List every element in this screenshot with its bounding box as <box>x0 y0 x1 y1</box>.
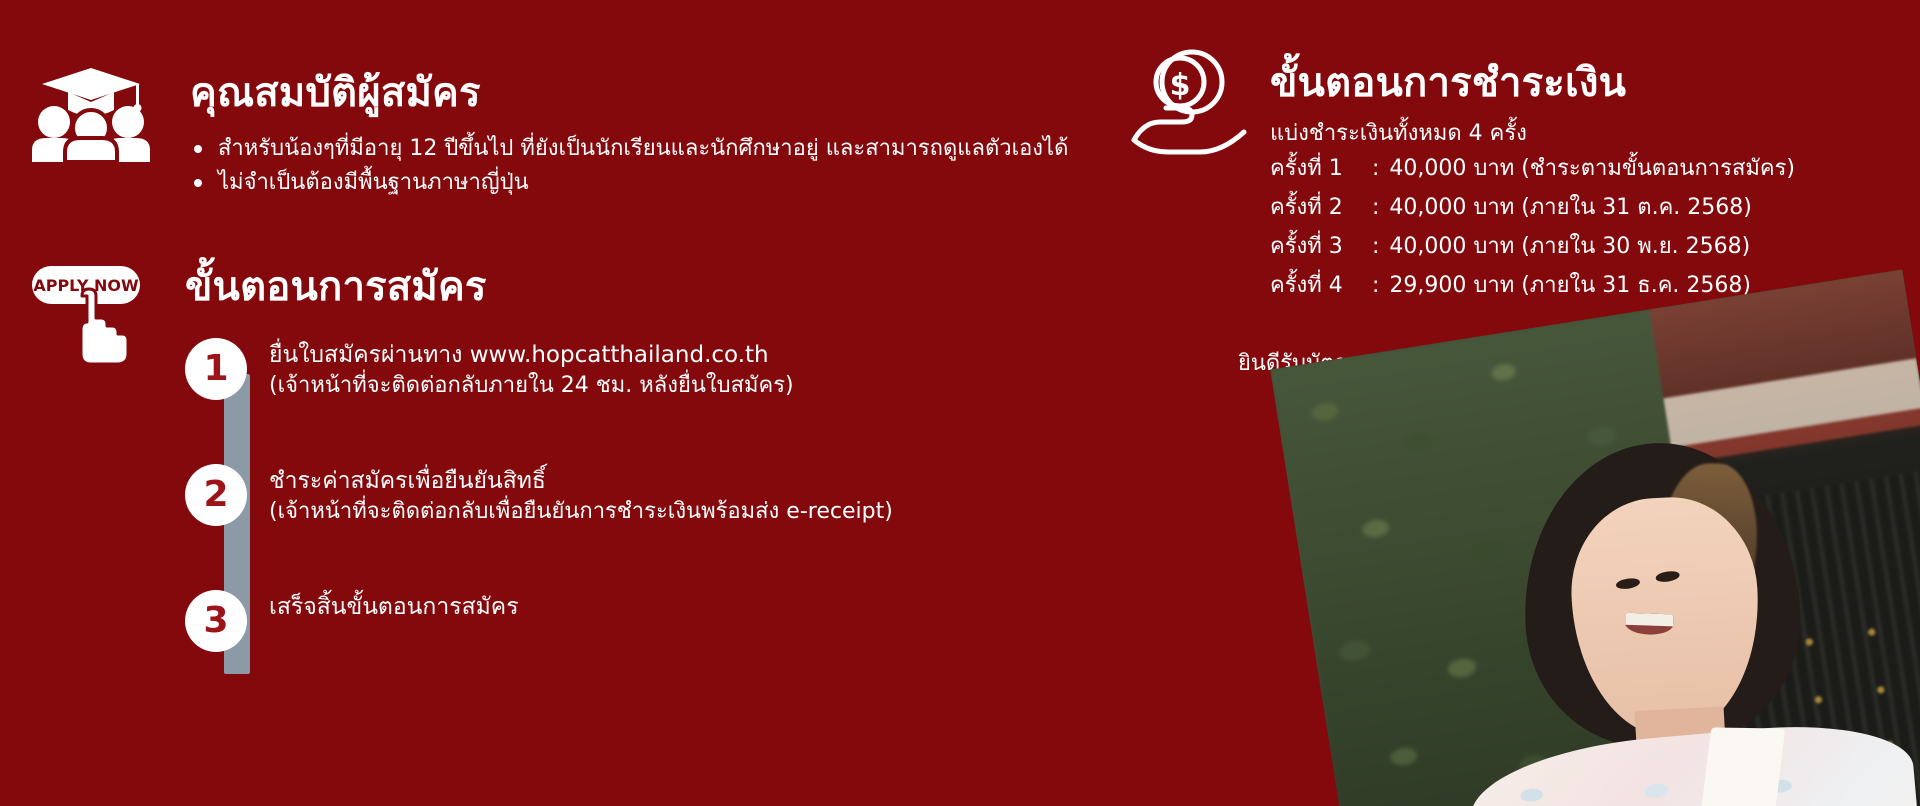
step-number-badge: 1 <box>185 338 247 400</box>
qualifications-heading: คุณสมบัติผู้สมัคร <box>190 70 481 116</box>
installment-label: ครั้งที่ 2 <box>1270 197 1370 219</box>
step-line-1: เสร็จสิ้นขั้นตอนการสมัคร <box>269 592 519 623</box>
installment-separator: : <box>1370 197 1385 219</box>
installment-amount: 29,900 บาท (ภายใน 31 ธ.ค. 2568) <box>1385 275 1751 297</box>
teeth <box>1625 613 1674 626</box>
eye-left <box>1615 577 1640 590</box>
installment-separator: : <box>1370 158 1385 180</box>
list-item: สำหรับน้องๆที่มีอายุ 12 ปีขึ้นไป ที่ยังเ… <box>190 132 1068 166</box>
installment-separator: : <box>1370 275 1385 297</box>
step-number-badge: 2 <box>185 464 247 526</box>
step-item-3: 3 เสร็จสิ้นขั้นตอนการสมัคร <box>185 590 1125 652</box>
installment-row: ครั้งที่ 3 : 40,000 บาท (ภายใน 30 พ.ย. 2… <box>1270 236 1910 258</box>
step-number-badge: 3 <box>185 590 247 652</box>
left-column: คุณสมบัติผู้สมัคร สำหรับน้องๆที่มีอายุ 1… <box>0 0 1150 806</box>
svg-text:$: $ <box>1170 68 1191 103</box>
step-text: เสร็จสิ้นขั้นตอนการสมัคร <box>269 590 519 623</box>
step-text: ยื่นใบสมัครผ่านทาง www.hopcatthailand.co… <box>269 338 794 402</box>
steps-list: 1 ยื่นใบสมัครผ่านทาง www.hopcatthailand.… <box>185 338 1125 652</box>
smiling-mouth <box>1625 613 1674 636</box>
step-line-2: (เจ้าหน้าที่จะติดต่อกลับภายใน 24 ชม. หลั… <box>269 371 794 402</box>
list-item: ไม่จำเป็นต้องมีพื้นฐานภาษาญี่ปุ่น <box>190 166 1068 200</box>
step-item-1: 1 ยื่นใบสมัครผ่านทาง www.hopcatthailand.… <box>185 338 1125 402</box>
girl-figure <box>1479 403 1917 806</box>
graduation-students-icon <box>30 50 152 162</box>
application-steps-heading: ขั้นตอนการสมัคร <box>185 264 487 310</box>
eye-right <box>1655 570 1680 583</box>
qualifications-list: สำหรับน้องๆที่มีอายุ 12 ปีขึ้นไป ที่ยังเ… <box>190 132 1068 200</box>
payment-heading: ขั้นตอนการชำระเงิน <box>1270 60 1626 106</box>
installment-row: ครั้งที่ 2 : 40,000 บาท (ภายใน 31 ต.ค. 2… <box>1270 197 1910 219</box>
hand-holding-coin-icon: $ <box>1130 48 1248 156</box>
banner-root: คุณสมบัติผู้สมัคร สำหรับน้องๆที่มีอายุ 1… <box>0 0 1920 806</box>
payment-subtitle: แบ่งชำระเงินทั้งหมด 4 ครั้ง <box>1270 118 1527 150</box>
step-text: ชำระค่าสมัครเพื่อยืนยันสิทธิ์ (เจ้าหน้าท… <box>269 464 893 528</box>
step-line-2: (เจ้าหน้าที่จะติดต่อกลับเพื่อยืนยันการชำ… <box>269 497 893 528</box>
installment-row: ครั้งที่ 1 : 40,000 บาท (ชำระตามขั้นตอนก… <box>1270 158 1910 180</box>
installment-separator: : <box>1370 236 1385 258</box>
installment-label: ครั้งที่ 3 <box>1270 236 1370 258</box>
installment-amount: 40,000 บาท (ชำระตามขั้นตอนการสมัคร) <box>1385 158 1795 180</box>
installment-label: ครั้งที่ 1 <box>1270 158 1370 180</box>
step-item-2: 2 ชำระค่าสมัครเพื่อยืนยันสิทธิ์ (เจ้าหน้… <box>185 464 1125 528</box>
installment-label: ครั้งที่ 4 <box>1270 275 1370 297</box>
step-line-1: ยื่นใบสมัครผ่านทาง www.hopcatthailand.co… <box>269 340 794 371</box>
step-line-1: ชำระค่าสมัครเพื่อยืนยันสิทธิ์ <box>269 466 893 497</box>
installment-amount: 40,000 บาท (ภายใน 31 ต.ค. 2568) <box>1385 197 1751 219</box>
apply-now-hand-click-icon[interactable]: APPLY NOW <box>30 260 152 370</box>
installment-amount: 40,000 บาท (ภายใน 30 พ.ย. 2568) <box>1385 236 1750 258</box>
